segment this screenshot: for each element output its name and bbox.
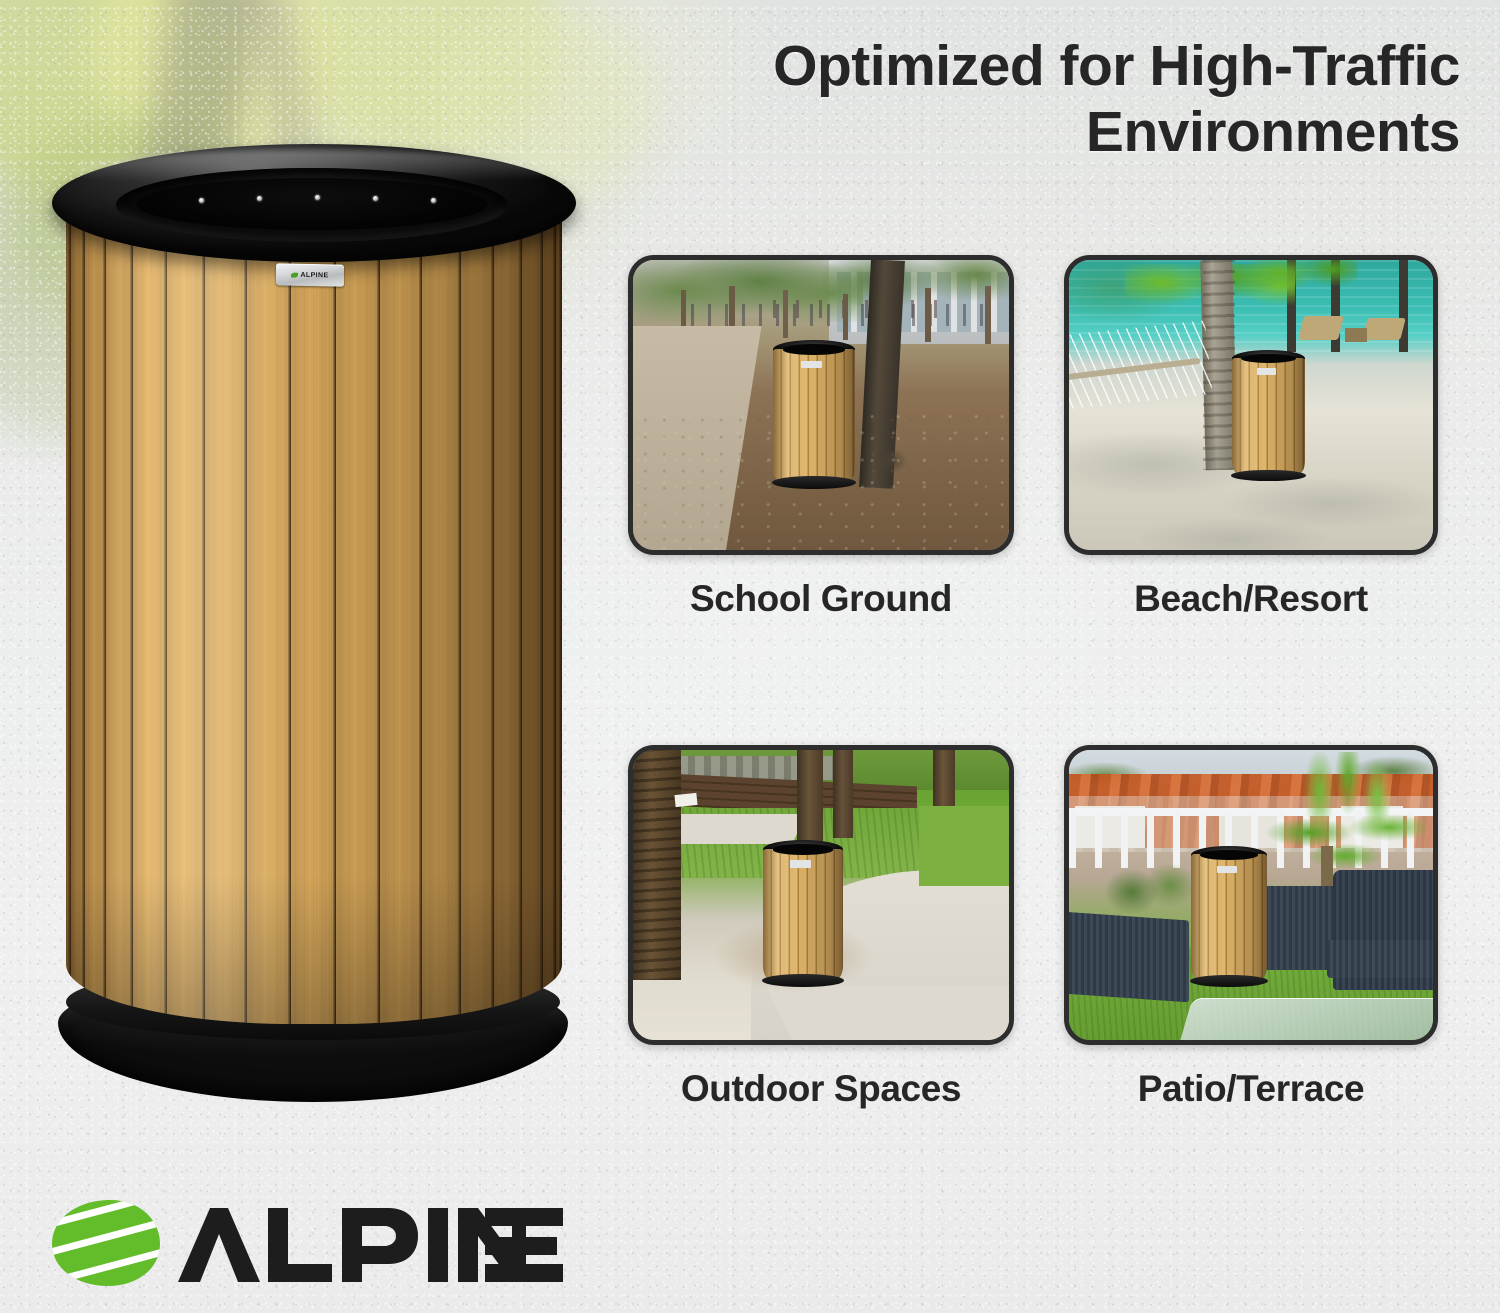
photo-tile-outdoor-spaces[interactable] — [628, 745, 1014, 1045]
mini-can-opening — [783, 344, 845, 354]
mini-can-nameplate — [801, 361, 822, 368]
photo-patio-terrace — [1069, 750, 1433, 1040]
caption-beach-resort: Beach/Resort — [1064, 578, 1438, 620]
mini-can-body — [763, 849, 843, 980]
rim-screw-group — [136, 178, 488, 230]
product-trash-can: ALPINE — [44, 138, 584, 1108]
rim-screw — [431, 198, 436, 203]
mini-can-opening — [773, 844, 834, 854]
mini-can-body — [1232, 358, 1305, 475]
mini-can-opening — [1200, 850, 1258, 860]
alpine-wordmark — [176, 1200, 526, 1292]
alpine-wordmark-e — [485, 1200, 571, 1292]
mini-can-base — [762, 974, 844, 987]
rim-screw — [373, 196, 378, 201]
mini-can-body — [1191, 854, 1267, 980]
leaf-icon — [48, 1196, 168, 1288]
caption-school-ground: School Ground — [628, 578, 1014, 620]
caption-patio-terrace: Patio/Terrace — [1064, 1068, 1438, 1110]
rim-screw — [315, 195, 320, 200]
photo-outdoor-spaces — [633, 750, 1009, 1040]
product-in-scene — [1232, 350, 1305, 480]
product-wood-body — [66, 194, 562, 1024]
headline: Optimized for High-Traffic Environments — [560, 34, 1460, 165]
caption-outdoor-spaces: Outdoor Spaces — [628, 1068, 1014, 1110]
product-nameplate: ALPINE — [276, 263, 344, 286]
mini-can-opening — [1241, 354, 1296, 363]
nameplate-leaf-icon — [291, 272, 298, 277]
photo-school-ground — [633, 260, 1009, 550]
photo-tile-patio-terrace[interactable] — [1064, 745, 1438, 1045]
wood-grain-texture — [66, 194, 562, 1024]
photo-beach-resort — [1069, 260, 1433, 550]
mini-can-body — [773, 349, 855, 482]
mini-can-nameplate — [1217, 866, 1237, 873]
mini-can-nameplate — [1257, 368, 1276, 375]
headline-line-2: Environments — [560, 100, 1460, 166]
product-in-scene — [763, 840, 843, 986]
product-in-scene — [1191, 846, 1267, 986]
rim-screw — [257, 196, 262, 201]
nameplate-label: ALPINE — [300, 271, 328, 279]
mini-can-base — [1231, 470, 1305, 482]
mini-can-base — [1190, 975, 1268, 988]
product-infographic: Optimized for High-Traffic Environments … — [0, 0, 1500, 1313]
brand-logo — [48, 1192, 518, 1288]
headline-line-1: Optimized for High-Traffic — [773, 34, 1460, 98]
mini-can-base — [772, 476, 856, 489]
photo-tile-school-ground[interactable] — [628, 255, 1014, 555]
rim-screw — [199, 198, 204, 203]
photo-tile-beach-resort[interactable] — [1064, 255, 1438, 555]
product-in-scene — [773, 340, 855, 488]
mini-can-nameplate — [790, 860, 811, 867]
